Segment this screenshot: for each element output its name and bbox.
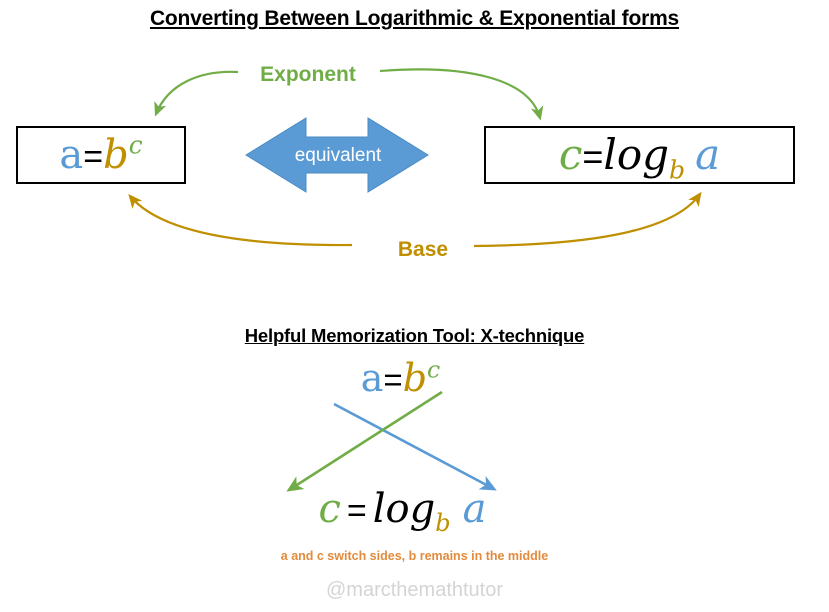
xt-top-argument: a <box>361 356 384 400</box>
equivalent-label: equivalent <box>253 145 423 167</box>
x-technique-arrow-c <box>289 392 442 490</box>
watermark-handle: @marcthemathtutor <box>0 579 829 602</box>
logarithmic-argument: a <box>695 130 720 179</box>
xt-top-equals: = <box>383 361 402 398</box>
x-technique-top-equation-row: a=bc <box>0 358 829 401</box>
xt-bottom-base: b <box>435 509 450 537</box>
x-technique-caption: a and c switch sides, b remains in the m… <box>0 549 829 563</box>
logarithmic-form-box: c=logba <box>484 126 795 184</box>
exponent-callout-label: Exponent <box>243 63 373 87</box>
exponential-equals: = <box>83 138 103 176</box>
exponential-exponent: c <box>129 131 143 160</box>
exponential-argument: a <box>59 132 83 178</box>
exponent-arrow-right <box>380 69 540 118</box>
logarithmic-equals: = <box>582 136 603 177</box>
x-technique-bottom-equation: c=logba <box>319 489 487 529</box>
x-technique-arrow-a <box>334 404 494 489</box>
base-arrow-left <box>130 196 352 245</box>
x-technique-top-equation: a=bc <box>361 359 440 397</box>
xt-bottom-equals: = <box>347 492 367 530</box>
logarithmic-log: log <box>603 130 669 179</box>
exponential-equation: a=bc <box>59 135 142 175</box>
xt-bottom-argument: a <box>463 486 487 532</box>
logarithmic-equation: c=logba <box>559 134 720 176</box>
exponent-arrow-left <box>156 72 238 114</box>
page-title: Converting Between Logarithmic & Exponen… <box>0 7 829 31</box>
xt-top-base: b <box>403 356 427 400</box>
exponential-form-box: a=bc <box>16 126 186 184</box>
logarithmic-base: b <box>669 155 685 184</box>
x-technique-bottom-equation-row: c=logba <box>0 487 829 532</box>
xt-top-exponent: c <box>427 355 440 383</box>
logarithmic-exponent: c <box>559 130 583 179</box>
xt-bottom-exponent: c <box>319 486 341 532</box>
memorization-section-title: Helpful Memorization Tool: X-technique <box>0 325 829 347</box>
exponential-base: b <box>103 132 129 178</box>
base-arrow-right <box>474 194 700 246</box>
xt-bottom-log: log <box>373 486 435 532</box>
diagram-canvas: Converting Between Logarithmic & Exponen… <box>0 0 829 612</box>
base-callout-label: Base <box>358 238 488 262</box>
